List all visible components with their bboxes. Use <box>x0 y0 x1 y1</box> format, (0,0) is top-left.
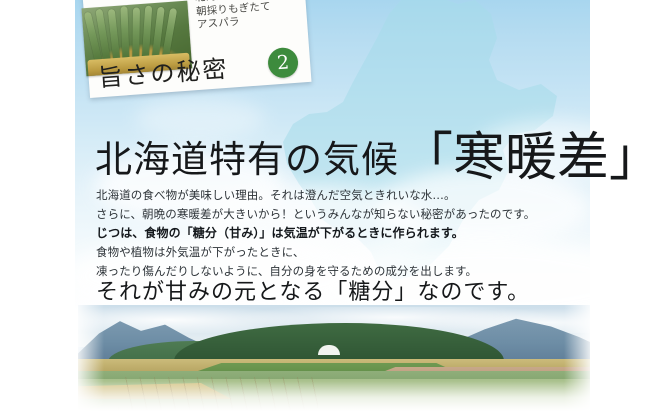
page-title-keyword: 「寒暖差」 <box>401 115 661 190</box>
card-note-text: 北海道富良野産の 朝採りもぎたて アスパラ <box>195 0 306 32</box>
secret-number-badge: 2 <box>267 47 299 79</box>
photo-fade-bottom <box>78 381 590 411</box>
promo-poster: 北海道富良野産の 朝採りもぎたて アスパラ 旨さの秘密 2 北海道特有の気候 「… <box>0 0 664 411</box>
page-title-lead: 北海道特有の気候 <box>95 129 399 183</box>
header-label-card: 北海道富良野産の 朝採りもぎたて アスパラ 旨さの秘密 2 <box>82 0 311 98</box>
body-line: さらに、朝晩の寒暖差が大きいから！というみんなが知らない秘密があったのです。 <box>96 205 516 224</box>
landscape-photo <box>78 305 590 411</box>
page-title: 北海道特有の気候 「寒暖差」 <box>95 112 661 187</box>
body-line-emphasis: じつは、食物の「糖分（甘み）」は気温が下がるときに作られます。 <box>96 224 516 243</box>
body-copy: 北海道の食べ物が美味しい理由。それは澄んだ空気ときれいな水…。 さらに、朝晩の寒… <box>96 186 516 281</box>
closing-statement: それが甘みの元となる「糖分」なのです。 <box>96 274 530 306</box>
body-line: 北海道の食べ物が美味しい理由。それは澄んだ空気ときれいな水…。 <box>96 186 516 205</box>
body-line: 食物や植物は外気温が下がったときに、 <box>96 243 516 262</box>
